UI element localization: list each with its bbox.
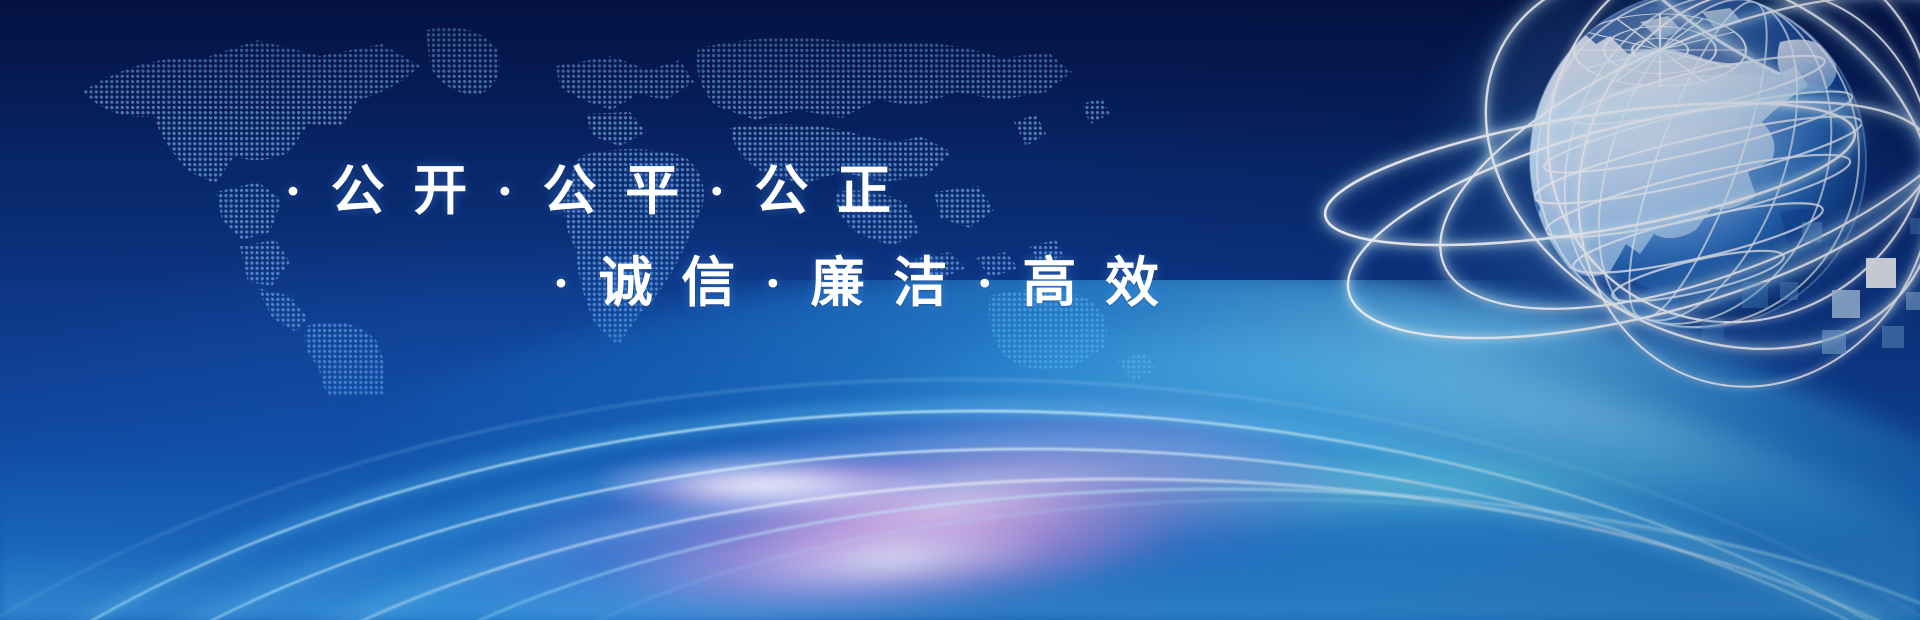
banner-root: · 公 开 · 公 平 · 公 正 · 诚 信 · 廉 洁 · 高 效	[0, 0, 1920, 620]
edge-vignette	[0, 0, 1920, 620]
